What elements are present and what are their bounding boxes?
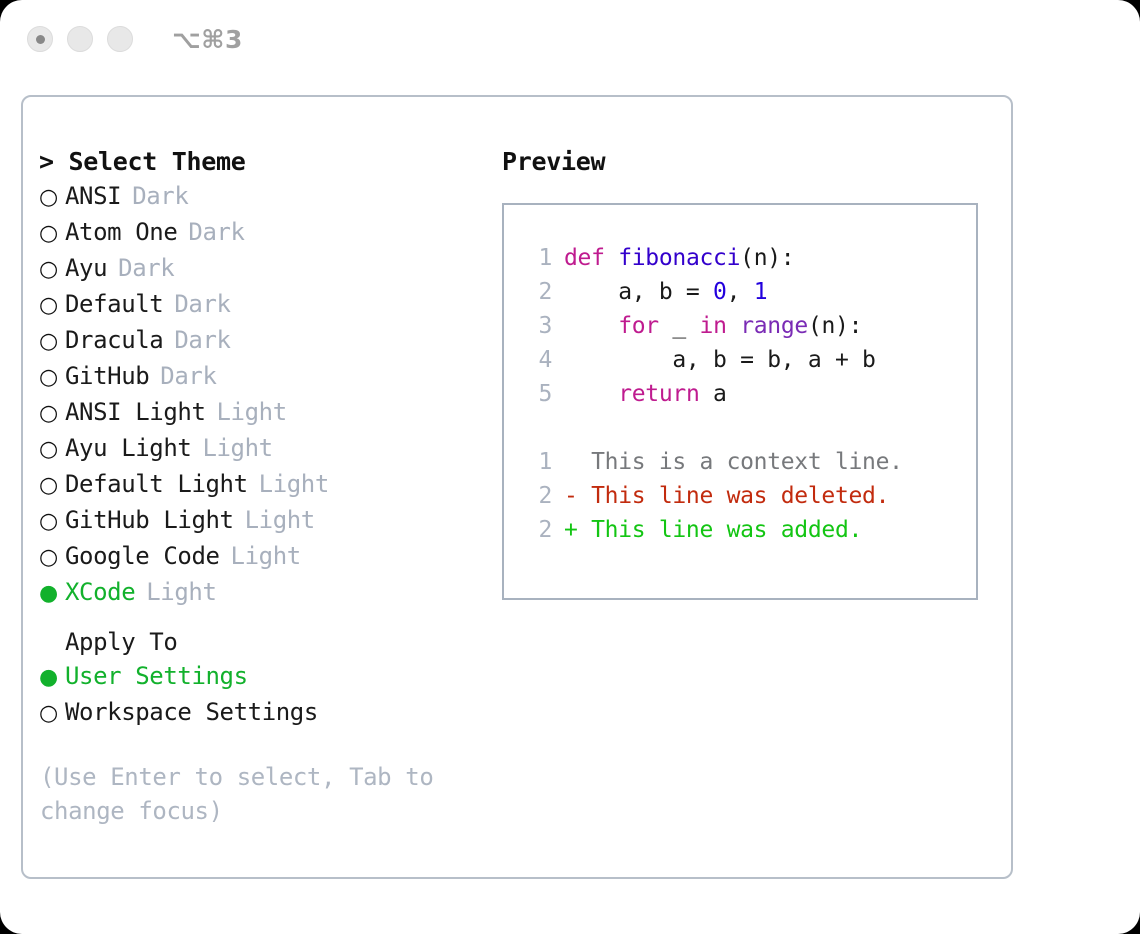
apply-to-option-label: User Settings bbox=[65, 659, 248, 693]
preview-spacer bbox=[522, 411, 976, 445]
line-number: 5 bbox=[522, 377, 552, 411]
code-line-text: a, b = 0, 1 bbox=[564, 275, 767, 309]
code-token-num: 0 bbox=[713, 279, 727, 305]
code-line: 1def fibonacci(n): bbox=[522, 241, 976, 275]
keyboard-hint-text: (Use Enter to select, Tab to change focu… bbox=[40, 760, 460, 828]
theme-kind-badge: Light bbox=[245, 503, 315, 537]
code-token-plain: a bbox=[700, 381, 727, 407]
code-token-plain: (n): bbox=[808, 313, 862, 339]
theme-name: ANSI bbox=[65, 179, 121, 213]
line-number: 2 bbox=[522, 275, 552, 309]
radio-unselected-icon: ○ bbox=[39, 397, 65, 431]
preview-box: 1def fibonacci(n):2 a, b = 0, 13 for _ i… bbox=[502, 203, 978, 600]
diff-line-text-del: - This line was deleted. bbox=[564, 479, 889, 513]
radio-unselected-icon: ○ bbox=[39, 181, 65, 215]
theme-name: GitHub Light bbox=[65, 503, 234, 537]
line-number: 1 bbox=[522, 241, 552, 275]
diff-line: 2- This line was deleted. bbox=[522, 479, 976, 513]
code-token-plain: a, b = bbox=[564, 279, 713, 305]
theme-selection-column: > Select Theme ○ANSIDark○Atom OneDark○Ay… bbox=[39, 145, 479, 611]
radio-unselected-icon: ○ bbox=[39, 541, 65, 575]
code-token-call: range bbox=[740, 313, 808, 339]
diff-sample: 1 This is a context line.2- This line wa… bbox=[522, 445, 976, 547]
line-number: 1 bbox=[522, 445, 552, 479]
theme-list-item[interactable]: ○Ayu LightLight bbox=[39, 431, 479, 467]
main-panel: > Select Theme ○ANSIDark○Atom OneDark○Ay… bbox=[21, 95, 1013, 879]
traffic-light-group bbox=[27, 26, 133, 52]
theme-kind-badge: Light bbox=[259, 467, 329, 501]
app-window: ⌥⌘3 > Select Theme ○ANSIDark○Atom OneDar… bbox=[0, 0, 1140, 934]
apply-to-list: ●User Settings○Workspace Settings bbox=[39, 659, 479, 731]
apply-to-option[interactable]: ●User Settings bbox=[39, 659, 479, 695]
line-number: 2 bbox=[522, 513, 552, 547]
code-token-plain: , bbox=[727, 279, 754, 305]
theme-name: Ayu bbox=[65, 251, 107, 285]
theme-name: XCode bbox=[65, 575, 135, 609]
code-line: 4 a, b = b, a + b bbox=[522, 343, 976, 377]
radio-unselected-icon: ○ bbox=[39, 253, 65, 287]
theme-kind-badge: Dark bbox=[118, 251, 174, 285]
preview-column: Preview 1def fibonacci(n):2 a, b = 0, 13… bbox=[502, 145, 992, 600]
theme-list-item[interactable]: ○ANSI LightLight bbox=[39, 395, 479, 431]
theme-name: Google Code bbox=[65, 539, 220, 573]
theme-list-item[interactable]: ○GitHub LightLight bbox=[39, 503, 479, 539]
theme-kind-badge: Light bbox=[231, 539, 301, 573]
code-token-plain: (n): bbox=[740, 245, 794, 271]
code-token-fn: fibonacci bbox=[618, 245, 740, 271]
window-minimize-button[interactable] bbox=[67, 26, 93, 52]
keyboard-shortcut-label: ⌥⌘3 bbox=[172, 25, 243, 54]
theme-name: Ayu Light bbox=[65, 431, 191, 465]
theme-list-item[interactable]: ○DraculaDark bbox=[39, 323, 479, 359]
code-line: 5 return a bbox=[522, 377, 976, 411]
line-number: 2 bbox=[522, 479, 552, 513]
code-sample: 1def fibonacci(n):2 a, b = 0, 13 for _ i… bbox=[522, 241, 976, 411]
code-line-text: a, b = b, a + b bbox=[564, 343, 876, 377]
theme-kind-badge: Light bbox=[202, 431, 272, 465]
line-number: 3 bbox=[522, 309, 552, 343]
theme-list-item[interactable]: ○Atom OneDark bbox=[39, 215, 479, 251]
apply-to-option[interactable]: ○Workspace Settings bbox=[39, 695, 479, 731]
code-line-text: return a bbox=[564, 377, 727, 411]
theme-kind-badge: Light bbox=[146, 575, 216, 609]
theme-list-item[interactable]: ○Default LightLight bbox=[39, 467, 479, 503]
code-line-text: def fibonacci(n): bbox=[564, 241, 794, 275]
code-token-kw: for bbox=[618, 313, 659, 339]
code-line-text: for _ in range(n): bbox=[564, 309, 862, 343]
code-token-plain bbox=[564, 381, 618, 407]
title-bar: ⌥⌘3 bbox=[0, 0, 1140, 78]
radio-unselected-icon: ○ bbox=[39, 361, 65, 395]
radio-unselected-icon: ○ bbox=[39, 697, 65, 731]
code-line: 3 for _ in range(n): bbox=[522, 309, 976, 343]
code-token-kw: return bbox=[618, 381, 699, 407]
theme-list-item[interactable]: ○GitHubDark bbox=[39, 359, 479, 395]
code-token-plain: a, b = b, a + b bbox=[564, 347, 876, 373]
code-token-num: 1 bbox=[754, 279, 768, 305]
radio-unselected-icon: ○ bbox=[39, 325, 65, 359]
code-token-plain bbox=[727, 313, 741, 339]
code-token-plain: _ bbox=[659, 313, 700, 339]
radio-unselected-icon: ○ bbox=[39, 433, 65, 467]
theme-name: Dracula bbox=[65, 323, 163, 357]
theme-name: Default bbox=[65, 287, 163, 321]
code-token-kw: def bbox=[564, 245, 618, 271]
theme-kind-badge: Light bbox=[217, 395, 287, 429]
theme-list: ○ANSIDark○Atom OneDark○AyuDark○DefaultDa… bbox=[39, 179, 479, 611]
window-maximize-button[interactable] bbox=[107, 26, 133, 52]
diff-line: 1 This is a context line. bbox=[522, 445, 976, 479]
radio-selected-icon: ● bbox=[39, 577, 65, 611]
diff-line: 2+ This line was added. bbox=[522, 513, 976, 547]
theme-kind-badge: Dark bbox=[174, 287, 230, 321]
select-theme-heading: > Select Theme bbox=[39, 145, 479, 179]
theme-name: ANSI Light bbox=[65, 395, 206, 429]
theme-list-item[interactable]: ○AyuDark bbox=[39, 251, 479, 287]
window-close-button[interactable] bbox=[27, 26, 53, 52]
line-number: 4 bbox=[522, 343, 552, 377]
radio-unselected-icon: ○ bbox=[39, 505, 65, 539]
diff-line-text-add: + This line was added. bbox=[564, 513, 862, 547]
record-dot-icon bbox=[36, 35, 45, 44]
theme-list-item[interactable]: ●XCodeLight bbox=[39, 575, 479, 611]
apply-to-option-label: Workspace Settings bbox=[65, 695, 318, 729]
theme-kind-badge: Dark bbox=[188, 215, 244, 249]
radio-unselected-icon: ○ bbox=[39, 217, 65, 251]
code-token-kw: in bbox=[700, 313, 727, 339]
panel-body: > Select Theme ○ANSIDark○Atom OneDark○Ay… bbox=[23, 97, 1011, 877]
theme-list-item[interactable]: ○Google CodeLight bbox=[39, 539, 479, 575]
diff-line-text-context: This is a context line. bbox=[564, 445, 903, 479]
apply-to-section: Apply To ●User Settings○Workspace Settin… bbox=[39, 625, 479, 731]
theme-name: Atom One bbox=[65, 215, 177, 249]
theme-name: Default Light bbox=[65, 467, 248, 501]
code-line: 2 a, b = 0, 1 bbox=[522, 275, 976, 309]
radio-unselected-icon: ○ bbox=[39, 469, 65, 503]
theme-name: GitHub bbox=[65, 359, 149, 393]
theme-list-item[interactable]: ○ANSIDark bbox=[39, 179, 479, 215]
preview-heading: Preview bbox=[502, 145, 992, 179]
code-token-plain bbox=[564, 313, 618, 339]
radio-unselected-icon: ○ bbox=[39, 289, 65, 323]
radio-selected-icon: ● bbox=[39, 661, 65, 695]
apply-to-heading: Apply To bbox=[39, 625, 479, 659]
theme-list-item[interactable]: ○DefaultDark bbox=[39, 287, 479, 323]
theme-kind-badge: Dark bbox=[132, 179, 188, 213]
theme-kind-badge: Dark bbox=[160, 359, 216, 393]
theme-kind-badge: Dark bbox=[174, 323, 230, 357]
